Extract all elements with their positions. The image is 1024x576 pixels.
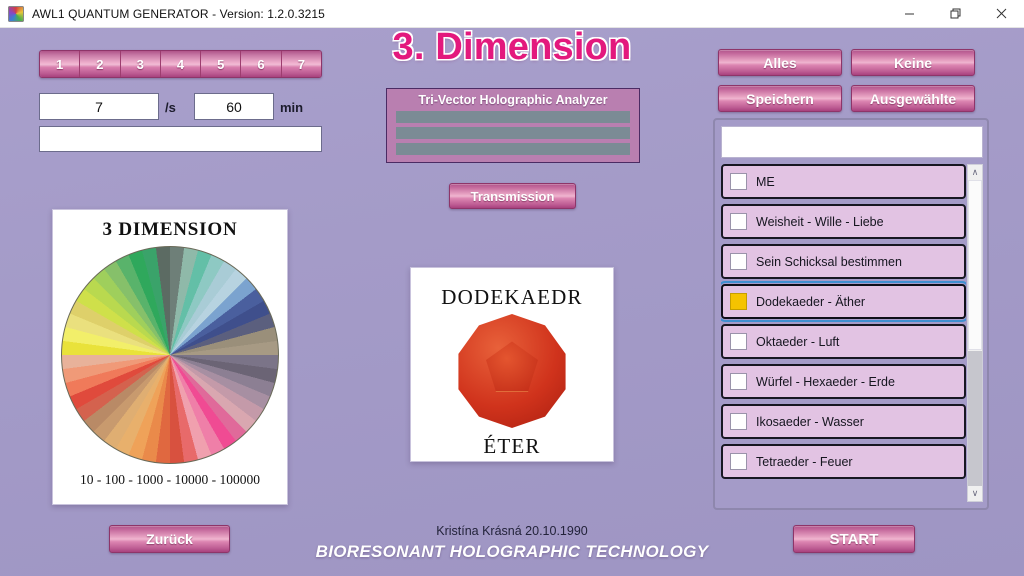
rate-input[interactable] xyxy=(39,93,159,120)
color-wheel-graphic xyxy=(61,246,279,464)
scrollbar-thumb[interactable] xyxy=(968,180,982,350)
list-item[interactable]: Dodekaeder - Äther xyxy=(721,284,966,319)
notes-input[interactable] xyxy=(39,126,322,152)
analyzer-title: Tri-Vector Holographic Analyzer xyxy=(396,93,630,107)
step-button-1[interactable]: 1 xyxy=(40,51,80,77)
list-item[interactable]: Tetraeder - Feuer xyxy=(721,444,966,479)
list-item[interactable]: Weisheit - Wille - Liebe xyxy=(721,204,966,239)
program-list[interactable]: MEWeisheit - Wille - LiebeSein Schicksal… xyxy=(721,164,966,502)
restore-icon[interactable] xyxy=(932,0,978,28)
dodecahedron-icon xyxy=(455,314,569,428)
list-item[interactable]: ME xyxy=(721,164,966,199)
list-item[interactable]: Sein Schicksal bestimmen xyxy=(721,244,966,279)
list-item[interactable]: Ikosaeder - Wasser xyxy=(721,404,966,439)
list-item[interactable]: Würfel - Hexaeder - Erde xyxy=(721,364,966,399)
dodecahedron-card: DODEKAEDR ÉTER xyxy=(410,267,614,462)
list-item[interactable]: Oktaeder - Luft xyxy=(721,324,966,359)
close-icon[interactable] xyxy=(978,0,1024,28)
list-item-checkbox[interactable] xyxy=(730,213,747,230)
app-window: AWL1 QUANTUM GENERATOR - Version: 1.2.0.… xyxy=(0,0,1024,576)
scroll-down-icon[interactable]: ∨ xyxy=(968,486,982,501)
duration-unit-label: min xyxy=(280,100,303,115)
analyzer-bar-3 xyxy=(396,143,630,155)
select-none-button[interactable]: Keine xyxy=(851,49,975,76)
step-button-3[interactable]: 3 xyxy=(121,51,161,77)
step-button-2[interactable]: 2 xyxy=(80,51,120,77)
list-item-label: Oktaeder - Luft xyxy=(756,335,839,349)
step-button-5[interactable]: 5 xyxy=(201,51,241,77)
window-controls xyxy=(886,0,1024,28)
scroll-up-icon[interactable]: ∧ xyxy=(968,165,982,180)
list-item-checkbox[interactable] xyxy=(730,293,747,310)
color-wheel-title: 3 DIMENSION xyxy=(53,219,287,241)
list-item-label: Ikosaeder - Wasser xyxy=(756,415,864,429)
app-spectrum-icon xyxy=(8,6,24,22)
list-item-label: ME xyxy=(756,175,775,189)
list-scrollbar[interactable]: ∧ ∨ xyxy=(967,164,983,502)
select-all-button[interactable]: Alles xyxy=(718,49,842,76)
color-wheel-caption: 10 - 100 - 1000 - 10000 - 100000 xyxy=(53,472,287,488)
filter-input[interactable] xyxy=(721,126,983,158)
list-item-checkbox[interactable] xyxy=(730,413,747,430)
analyzer-bar-1 xyxy=(396,111,630,123)
list-item-label: Tetraeder - Feuer xyxy=(756,455,853,469)
transmission-button[interactable]: Transmission xyxy=(449,183,576,209)
save-button[interactable]: Speichern xyxy=(718,85,842,112)
list-item-label: Dodekaeder - Äther xyxy=(756,295,865,309)
list-item-checkbox[interactable] xyxy=(730,173,747,190)
title-bar: AWL1 QUANTUM GENERATOR - Version: 1.2.0.… xyxy=(0,0,1024,28)
list-item-checkbox[interactable] xyxy=(730,253,747,270)
dodecahedron-face xyxy=(486,341,538,391)
color-wheel-card: 3 DIMENSION 10 - 100 - 1000 - 10000 - 10… xyxy=(52,209,288,505)
selected-button[interactable]: Ausgewählte xyxy=(851,85,975,112)
patient-credit: Kristína Krásná 20.10.1990 xyxy=(0,524,1024,538)
analyzer-bar-2 xyxy=(396,127,630,139)
step-button-6[interactable]: 6 xyxy=(241,51,281,77)
list-item-checkbox[interactable] xyxy=(730,453,747,470)
tagline: BIORESONANT HOLOGRAPHIC TECHNOLOGY xyxy=(0,542,1024,562)
minimize-icon[interactable] xyxy=(886,0,932,28)
duration-input[interactable] xyxy=(194,93,274,120)
list-item-label: Würfel - Hexaeder - Erde xyxy=(756,375,895,389)
step-button-4[interactable]: 4 xyxy=(161,51,201,77)
rate-unit-label: /s xyxy=(165,100,176,115)
list-scroll-area: MEWeisheit - Wille - LiebeSein Schicksal… xyxy=(721,164,983,502)
window-title: AWL1 QUANTUM GENERATOR - Version: 1.2.0.… xyxy=(32,7,325,21)
frequency-step-buttons[interactable]: 1234567 xyxy=(39,50,322,78)
list-item-checkbox[interactable] xyxy=(730,373,747,390)
step-button-7[interactable]: 7 xyxy=(282,51,321,77)
dodecahedron-subtitle: ÉTER xyxy=(411,434,613,459)
list-item-checkbox[interactable] xyxy=(730,333,747,350)
analyzer-panel: Tri-Vector Holographic Analyzer xyxy=(386,88,640,163)
list-item-label: Weisheit - Wille - Liebe xyxy=(756,215,884,229)
scrollbar-track[interactable] xyxy=(968,351,982,486)
dodecahedron-title: DODEKAEDR xyxy=(411,285,613,310)
list-item-label: Sein Schicksal bestimmen xyxy=(756,255,902,269)
program-list-panel: MEWeisheit - Wille - LiebeSein Schicksal… xyxy=(713,118,989,510)
